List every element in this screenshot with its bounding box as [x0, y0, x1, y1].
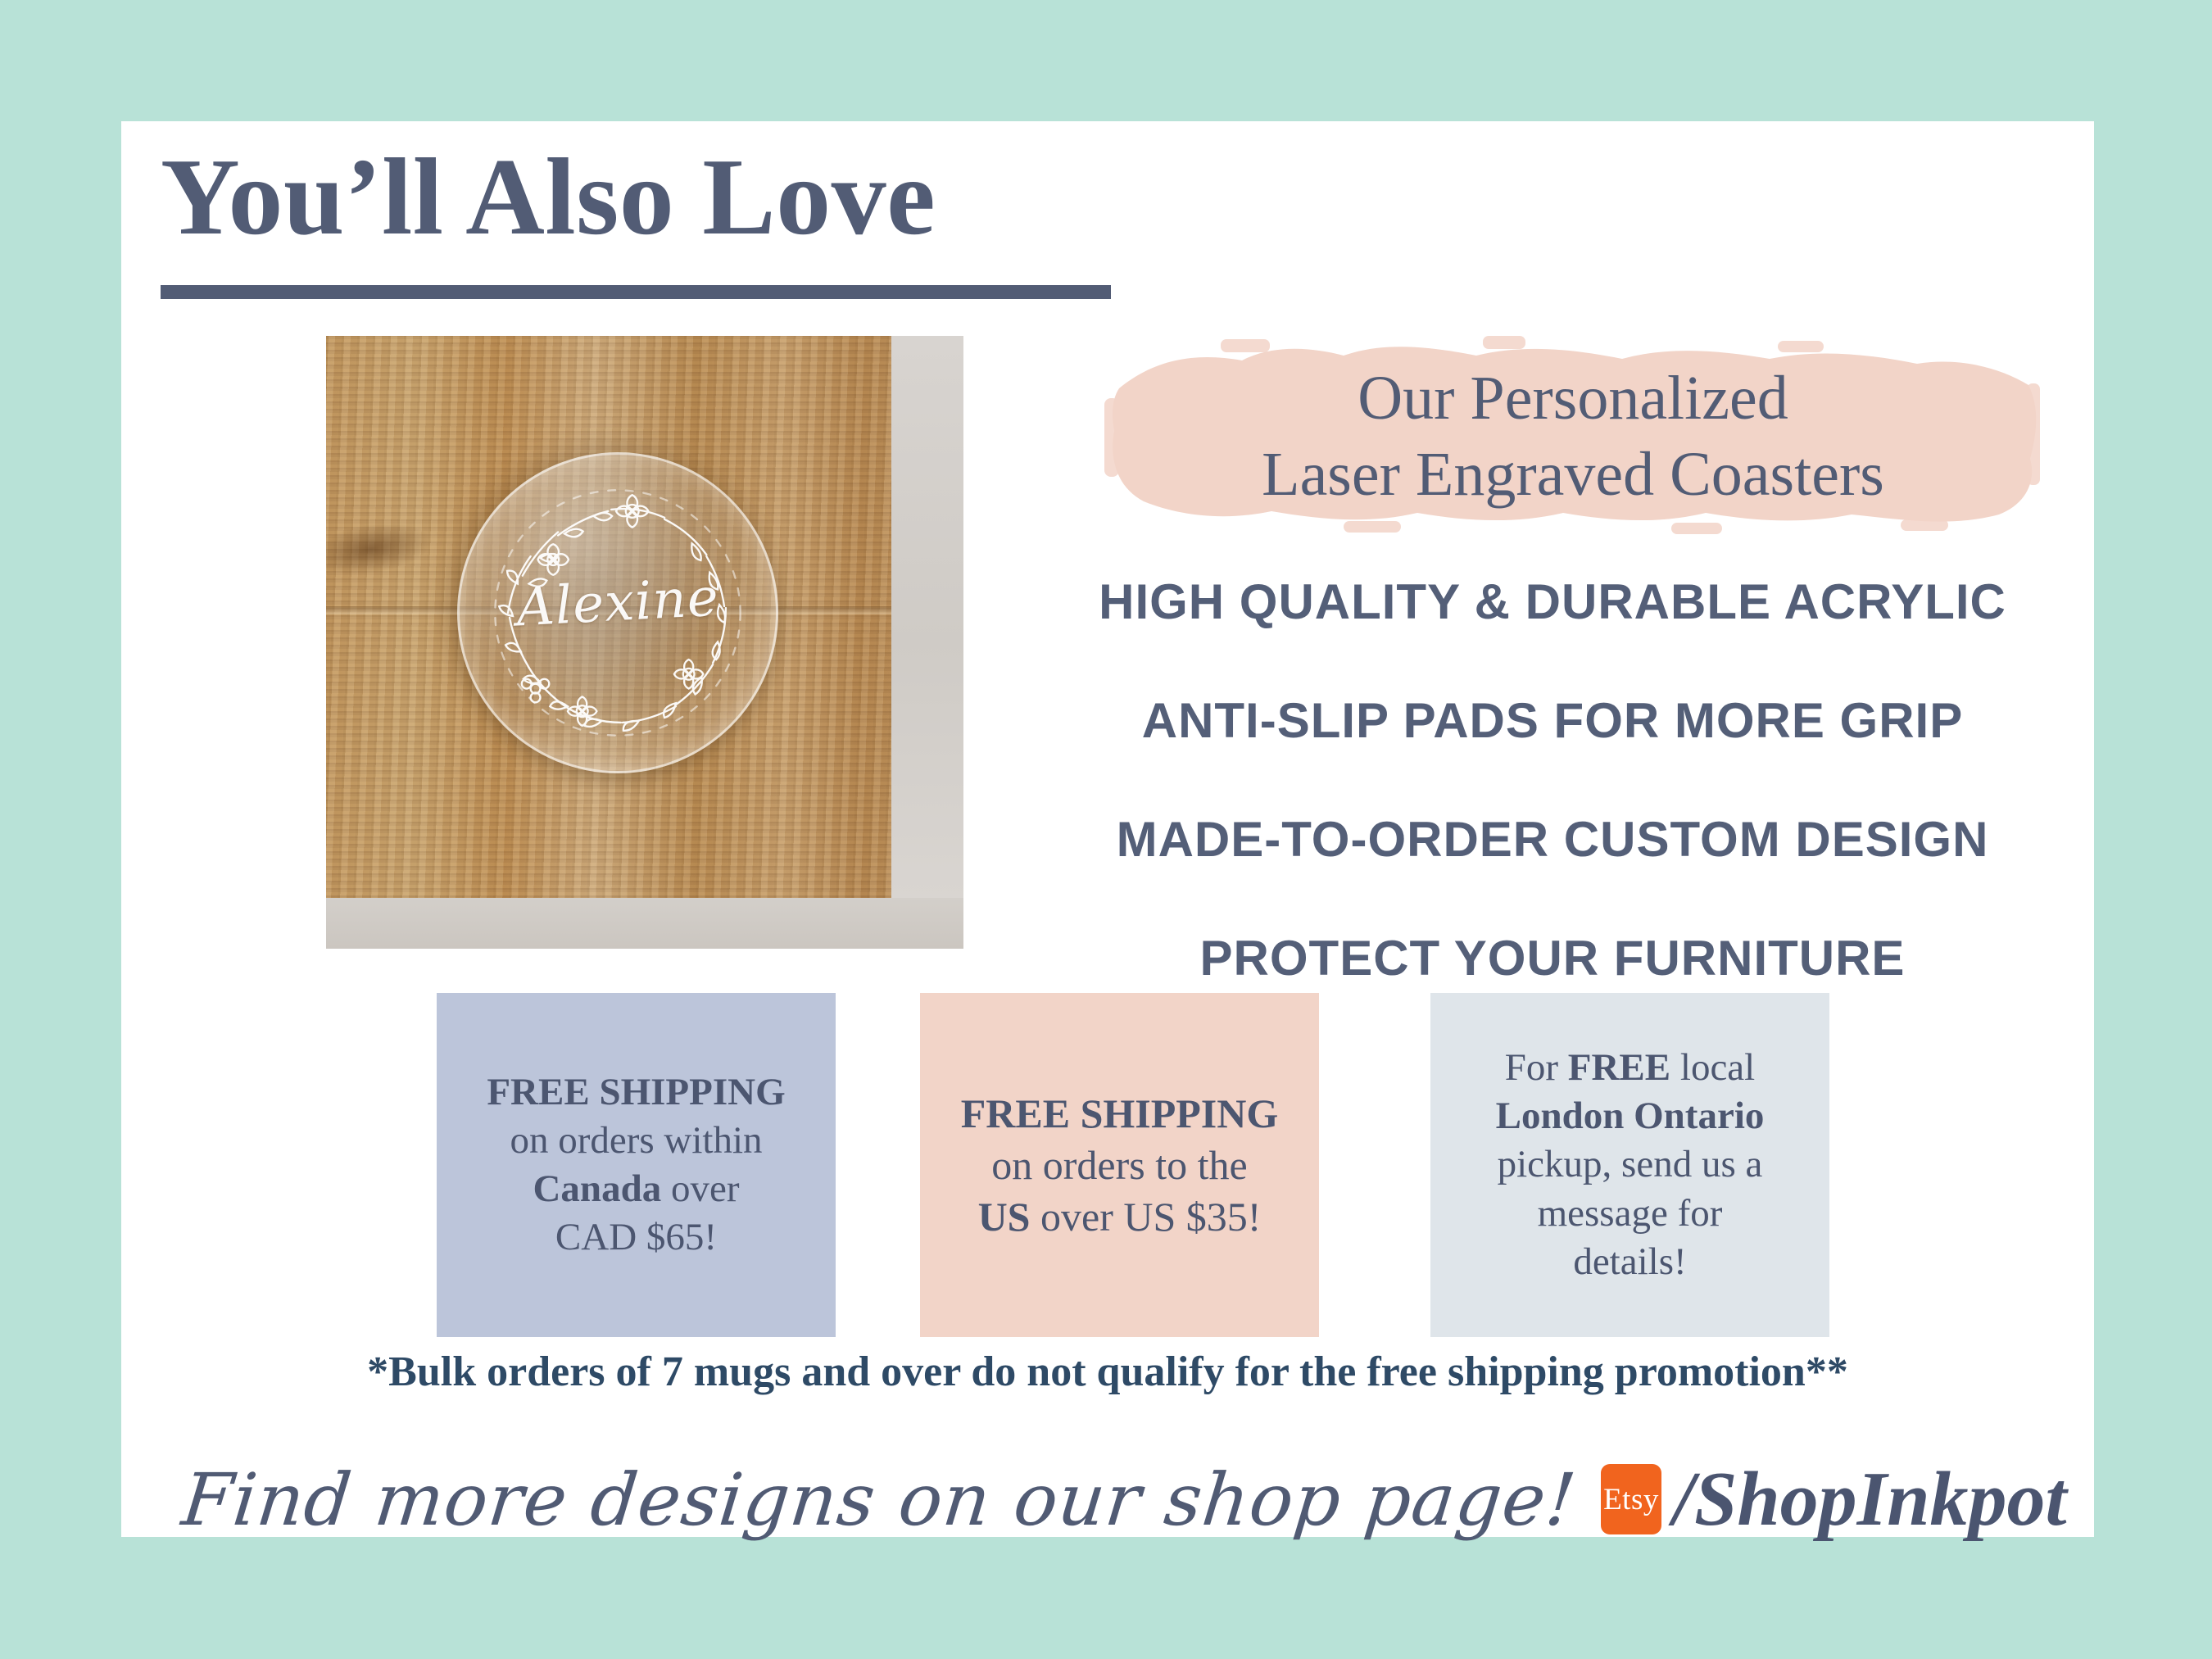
promo-box-us-shipping: FREE SHIPPINGon orders to theUS over US …: [920, 993, 1319, 1337]
feature-item-4: PROTECT YOUR FURNITURE: [1049, 930, 2056, 986]
feature-item-1: HIGH QUALITY & DURABLE ACRYLIC: [1049, 573, 2056, 630]
promo-line: US over US $35!: [961, 1191, 1279, 1243]
feature-list: HIGH QUALITY & DURABLE ACRYLIC ANTI-SLIP…: [1049, 573, 2056, 986]
banner-line-2: Laser Engraved Coasters: [1262, 437, 1884, 513]
promo-line: FREE SHIPPING: [961, 1088, 1279, 1140]
banner-line-1: Our Personalized: [1358, 360, 1788, 437]
promo-box-local-pickup: For FREE localLondon Ontariopickup, send…: [1430, 993, 1829, 1337]
banner-brushstroke: Our Personalized Laser Engraved Coasters: [1098, 334, 2048, 539]
promo-line: London Ontario: [1496, 1092, 1765, 1140]
shipping-disclaimer: *Bulk orders of 7 mugs and over do not q…: [121, 1348, 2094, 1396]
page-title: You’ll Also Love: [161, 139, 936, 255]
promo-text-us: FREE SHIPPINGon orders to theUS over US …: [961, 1088, 1279, 1243]
promo-text-canada: FREE SHIPPINGon orders withinCanada over…: [487, 1068, 785, 1262]
promo-line: details!: [1496, 1238, 1765, 1286]
etsy-logo-label: Etsy: [1603, 1484, 1659, 1515]
shop-handle-link[interactable]: /ShopInkpot: [1673, 1455, 2067, 1543]
floor-background: [326, 898, 963, 949]
promo-line: on orders within: [487, 1117, 785, 1165]
wall-background: [891, 336, 963, 949]
feature-item-3: MADE-TO-ORDER CUSTOM DESIGN: [1049, 811, 2056, 868]
promo-line: For FREE local: [1496, 1044, 1765, 1092]
promo-box-canada-shipping: FREE SHIPPINGon orders withinCanada over…: [437, 993, 836, 1337]
product-photo: Alexine: [326, 336, 963, 949]
promo-text-pickup: For FREE localLondon Ontariopickup, send…: [1496, 1044, 1765, 1286]
acrylic-coaster: Alexine: [457, 452, 778, 773]
promo-line: message for: [1496, 1190, 1765, 1238]
title-underline-rule: [161, 285, 1111, 299]
promo-line: CAD $65!: [487, 1213, 785, 1262]
promo-line: on orders to the: [961, 1140, 1279, 1191]
etsy-logo-icon[interactable]: Etsy: [1601, 1464, 1661, 1534]
feature-item-2: ANTI-SLIP PADS FOR MORE GRIP: [1049, 692, 2056, 749]
promo-line: Canada over: [487, 1165, 785, 1213]
promo-line: FREE SHIPPING: [487, 1068, 785, 1117]
banner-text: Our Personalized Laser Engraved Coasters: [1098, 334, 2048, 539]
promo-box-row: FREE SHIPPINGon orders withinCanada over…: [437, 993, 1829, 1337]
promo-line: pickup, send us a: [1496, 1140, 1765, 1189]
footer-script-text: Find more designs on our shop page!: [179, 1457, 1580, 1542]
footer-cta: Find more designs on our shop page! Etsy…: [121, 1438, 2128, 1561]
